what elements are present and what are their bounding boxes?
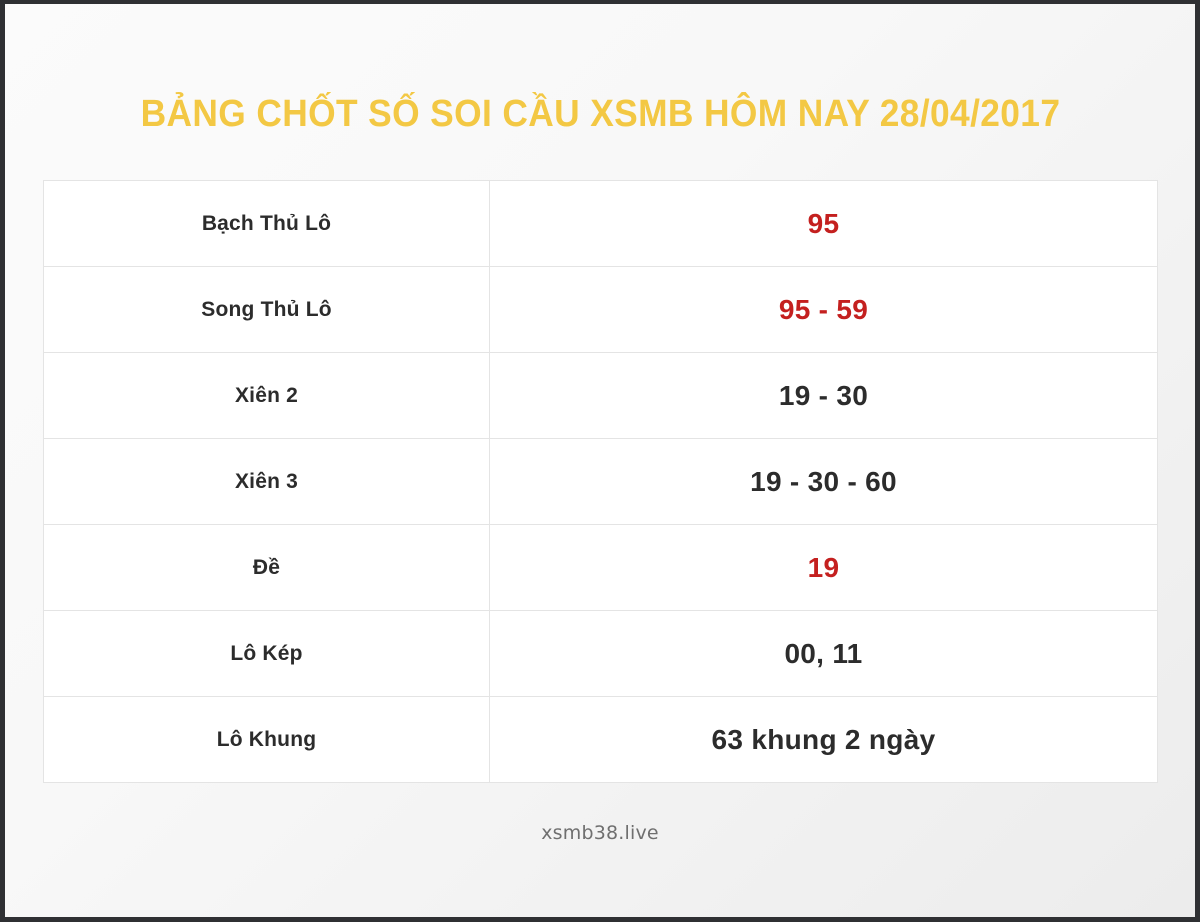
- table-row: Lô Kép00, 11: [44, 611, 1158, 697]
- row-value: 19 - 30 - 60: [750, 466, 897, 497]
- row-label-cell: Đề: [44, 525, 490, 611]
- table-row: Đề19: [44, 525, 1158, 611]
- row-label: Lô Khung: [217, 728, 317, 751]
- row-label-cell: Xiên 3: [44, 439, 490, 525]
- row-value-cell: 95: [490, 181, 1158, 267]
- row-value-cell: 00, 11: [490, 611, 1158, 697]
- row-value-cell: 19 - 30 - 60: [490, 439, 1158, 525]
- row-value: 19: [808, 552, 840, 583]
- screenshot-root: BẢNG CHỐT SỐ SOI CẦU XSMB HÔM NAY 28/04/…: [0, 0, 1200, 922]
- table-row: Song Thủ Lô95 - 59: [44, 267, 1158, 353]
- table-row: Lô Khung63 khung 2 ngày: [44, 697, 1158, 783]
- table-row: Xiên 319 - 30 - 60: [44, 439, 1158, 525]
- row-value: 95: [808, 208, 840, 239]
- table-body: Bạch Thủ Lô95Song Thủ Lô95 - 59Xiên 219 …: [44, 181, 1158, 783]
- prediction-table: Bạch Thủ Lô95Song Thủ Lô95 - 59Xiên 219 …: [43, 180, 1158, 783]
- footer: xsmb38.live: [5, 822, 1195, 844]
- row-label: Đề: [253, 556, 280, 579]
- row-value: 00, 11: [784, 638, 862, 669]
- row-label-cell: Lô Khung: [44, 697, 490, 783]
- table-row: Bạch Thủ Lô95: [44, 181, 1158, 267]
- row-value-cell: 19 - 30: [490, 353, 1158, 439]
- row-label: Song Thủ Lô: [201, 298, 332, 321]
- row-value-cell: 63 khung 2 ngày: [490, 697, 1158, 783]
- row-label-cell: Xiên 2: [44, 353, 490, 439]
- row-value: 95 - 59: [779, 294, 868, 325]
- page-title: BẢNG CHỐT SỐ SOI CẦU XSMB HÔM NAY 28/04/…: [140, 92, 1060, 136]
- row-label: Bạch Thủ Lô: [202, 212, 331, 235]
- row-value: 19 - 30: [779, 380, 868, 411]
- row-label-cell: Lô Kép: [44, 611, 490, 697]
- row-value: 63 khung 2 ngày: [712, 724, 936, 755]
- row-label: Lô Kép: [230, 642, 302, 665]
- row-value-cell: 95 - 59: [490, 267, 1158, 353]
- site-credit: xsmb38.live: [541, 822, 659, 844]
- row-value-cell: 19: [490, 525, 1158, 611]
- row-label: Xiên 3: [235, 470, 298, 493]
- table-row: Xiên 219 - 30: [44, 353, 1158, 439]
- row-label-cell: Bạch Thủ Lô: [44, 181, 490, 267]
- content-panel: BẢNG CHỐT SỐ SOI CẦU XSMB HÔM NAY 28/04/…: [5, 4, 1195, 917]
- row-label-cell: Song Thủ Lô: [44, 267, 490, 353]
- title-bar: BẢNG CHỐT SỐ SOI CẦU XSMB HÔM NAY 28/04/…: [5, 92, 1195, 136]
- row-label: Xiên 2: [235, 384, 298, 407]
